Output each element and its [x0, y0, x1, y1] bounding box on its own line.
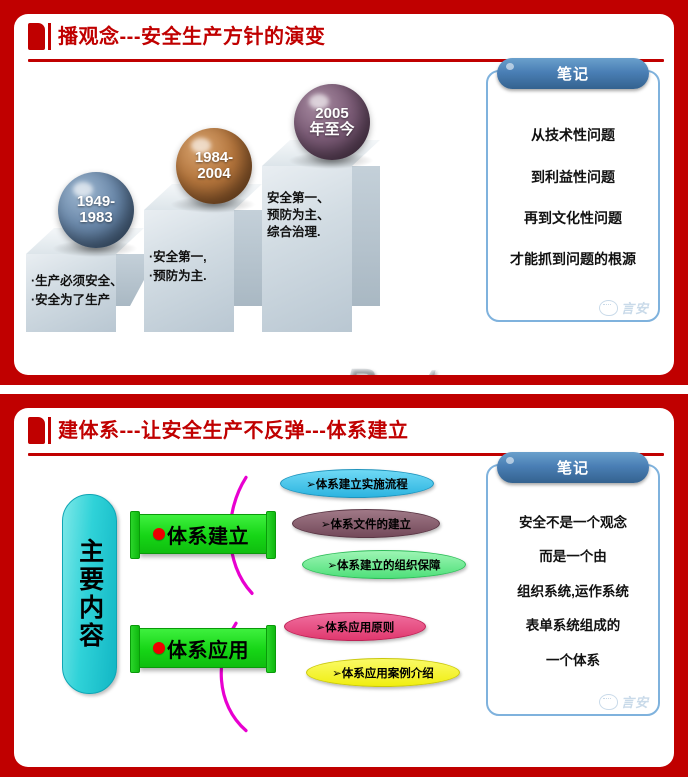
ball-3-line-1: 2005	[315, 105, 348, 122]
notes-card-2: 笔记 安全不是一个观念 而是一个由 组织系统,运作系统 表单系统组成的 一个体系…	[486, 464, 660, 716]
slide-separator	[0, 385, 688, 394]
leaf-label: ➢体系建立实施流程	[306, 476, 408, 492]
step-3-caption-line-3: 综合治理.	[267, 224, 330, 241]
notes-line: 从技术性问题	[531, 128, 615, 143]
leaf-oval-1-2[interactable]: ➢体系文件的建立	[292, 509, 440, 538]
timeline-ball-1: 1949- 1983	[58, 172, 134, 248]
timeline-ball-2: 1984- 2004	[176, 128, 252, 204]
best-decor-text: Best	[342, 360, 437, 375]
bookmark-flag-icon	[28, 23, 45, 50]
main-topic-label: 主要内容	[76, 538, 102, 650]
timeline-ball-3: 2005 年至今	[294, 84, 370, 160]
mindmap-diagram: 主要内容 体系建立 体系应用 ➢体系建立实施流程	[14, 456, 514, 767]
slide-1-title-row: 播观念---安全生产方针的演变	[14, 14, 674, 54]
leaf-oval-2-1[interactable]: ➢体系应用原则	[284, 612, 426, 641]
notes-card-1: 笔记 从技术性问题 到利益性问题 再到文化性问题 才能抓到问题的根源 言安	[486, 70, 660, 322]
notes-header-label-1: 笔记	[557, 63, 589, 84]
bookmark-flag-icon	[28, 417, 45, 444]
ball-3-line-2: 年至今	[309, 121, 354, 138]
notes-line: 一个体系	[546, 654, 600, 669]
leaf-oval-2-2[interactable]: ➢体系应用案例介绍	[306, 658, 460, 687]
branch-banner-1-label: 体系建立	[167, 520, 249, 549]
slide-1-panel: 播观念---安全生产方针的演变	[14, 14, 674, 375]
notes-line: 表单系统组成的	[526, 619, 621, 634]
ball-2-line-2: 2004	[197, 165, 230, 182]
leaf-label: ➢体系文件的建立	[321, 516, 411, 532]
step-3-caption-line-2: 预防为主、	[267, 207, 330, 224]
step-2-side	[234, 210, 262, 306]
step-1-caption-line-1: ·生产必须安全、	[31, 272, 123, 291]
notes-line: 到利益性问题	[531, 170, 615, 185]
step-2-caption: ·安全第一, ·预防为主.	[149, 248, 207, 287]
notes-line: 而是一个由	[539, 550, 607, 565]
notes-line: 再到文化性问题	[524, 211, 622, 226]
leaf-label: ➢体系建立的组织保障	[327, 557, 440, 573]
branch-banner-2[interactable]: 体系应用	[138, 628, 268, 668]
step-1-caption-line-2: ·安全为了生产	[31, 291, 123, 310]
slide-2-body: 主要内容 体系建立 体系应用 ➢体系建立实施流程	[14, 456, 674, 767]
leaf-oval-1-1[interactable]: ➢体系建立实施流程	[280, 469, 434, 498]
slide-2: 建体系---让安全生产不反弹---体系建立 主要内容	[0, 394, 688, 777]
notes-header-pill-1: 笔记	[497, 58, 649, 89]
slide-2-title-row: 建体系---让安全生产不反弹---体系建立	[14, 408, 674, 448]
bullet-dot-icon	[153, 528, 165, 540]
leaf-oval-1-3[interactable]: ➢体系建立的组织保障	[302, 550, 466, 579]
watermark-1: 言安	[599, 298, 649, 317]
staircase-diagram: 1949- 1983 1984- 2004 2005 年至今	[14, 62, 514, 375]
page-title: 建体系---让安全生产不反弹---体系建立	[58, 421, 408, 441]
leaf-label: ➢体系应用案例介绍	[332, 665, 434, 681]
notes-header-label-2: 笔记	[557, 457, 589, 478]
watermark-text: 言安	[621, 298, 649, 317]
wechat-icon	[599, 300, 618, 316]
notes-line: 才能抓到问题的根源	[510, 252, 636, 267]
watermark-2: 言安	[599, 692, 649, 711]
ball-1-line-1: 1949-	[77, 193, 115, 210]
notes-body-1: 从技术性问题 到利益性问题 再到文化性问题 才能抓到问题的根源	[488, 102, 658, 294]
page-title: 播观念---安全生产方针的演变	[58, 27, 325, 47]
step-3-caption-line-1: 安全第一、	[267, 190, 330, 207]
branch-banner-1[interactable]: 体系建立	[138, 514, 268, 554]
leaf-label: ➢体系应用原则	[316, 619, 395, 635]
slide-deck: 播观念---安全生产方针的演变	[0, 0, 688, 777]
notes-line: 安全不是一个观念	[519, 516, 627, 531]
step-2-caption-line-2: ·预防为主.	[149, 267, 207, 286]
bullet-dot-icon	[153, 642, 165, 654]
step-3-side	[352, 166, 380, 306]
slide-1-body: 1949- 1983 1984- 2004 2005 年至今	[14, 62, 674, 375]
branch-banner-2-label: 体系应用	[167, 634, 249, 663]
notes-line: 组织系统,运作系统	[517, 585, 629, 600]
slide-2-panel: 建体系---让安全生产不反弹---体系建立 主要内容	[14, 408, 674, 767]
step-2-caption-line-1: ·安全第一,	[149, 248, 207, 267]
notes-body-2: 安全不是一个观念 而是一个由 组织系统,运作系统 表单系统组成的 一个体系	[488, 496, 658, 688]
slide-1: 播观念---安全生产方针的演变	[0, 0, 688, 385]
step-3-caption: 安全第一、 预防为主、 综合治理.	[267, 190, 330, 241]
main-topic-pill[interactable]: 主要内容	[62, 494, 117, 694]
ball-2-line-1: 1984-	[195, 149, 233, 166]
step-1-caption: ·生产必须安全、 ·安全为了生产	[31, 272, 123, 311]
watermark-text: 言安	[621, 692, 649, 711]
wechat-icon	[599, 694, 618, 710]
notes-header-pill-2: 笔记	[497, 452, 649, 483]
ball-1-line-2: 1983	[79, 209, 112, 226]
